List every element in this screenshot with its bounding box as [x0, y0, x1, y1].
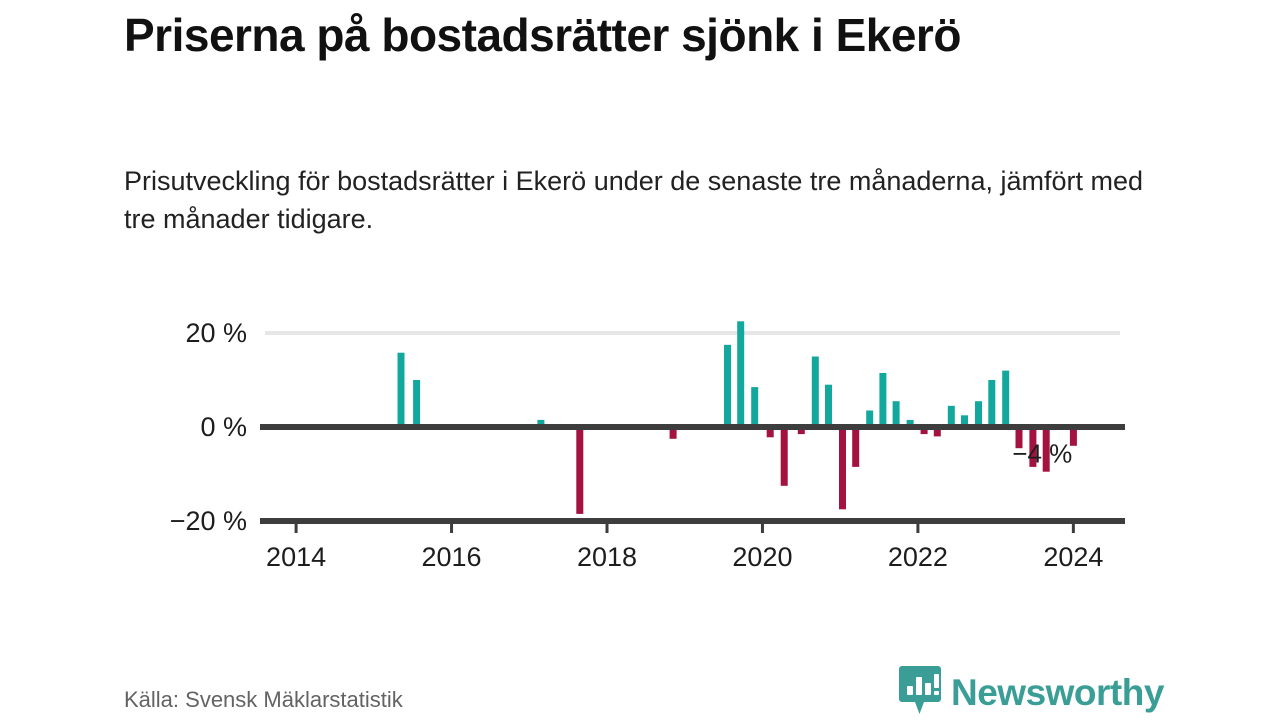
- chart-bar: [737, 321, 744, 427]
- x-axis-tick-label: 2020: [732, 542, 792, 572]
- gridline: [265, 331, 1120, 335]
- x-axis-tick-label: 2024: [1043, 542, 1103, 572]
- newsworthy-logo[interactable]: Newsworthy: [898, 664, 1164, 721]
- x-axis-tick: [916, 521, 919, 533]
- chart-bar: [1002, 371, 1009, 427]
- chart-bar: [751, 387, 758, 427]
- chart-bar: [825, 385, 832, 427]
- source-note: Källa: Svensk Mäklarstatistik: [124, 687, 403, 713]
- speech-bubble-bar-chart-icon: [898, 664, 942, 721]
- bar-chart: 20142016201820202022202420 %0 %−20 %−4 %: [0, 290, 1280, 590]
- logo-wordmark: Newsworthy: [951, 674, 1164, 711]
- x-axis-tick: [450, 521, 453, 533]
- x-axis-tick-label: 2014: [266, 542, 326, 572]
- y-axis-tick-label: 20 %: [185, 318, 247, 348]
- chart-bar: [975, 401, 982, 427]
- chart-bar: [413, 380, 420, 427]
- chart-svg: 20142016201820202022202420 %0 %−20 %−4 %: [0, 290, 1280, 590]
- page-title: Priserna på bostadsrätter sjönk i Ekerö: [124, 10, 1084, 62]
- x-axis-tick-label: 2018: [577, 542, 637, 572]
- zero-axis-line: [260, 424, 1125, 430]
- chart-bar: [852, 427, 859, 467]
- chart-bar: [576, 427, 583, 514]
- chart-bar: [812, 357, 819, 428]
- value-annotation: −4 %: [1012, 438, 1072, 468]
- chart-bar: [398, 353, 405, 427]
- x-axis-tick: [761, 521, 764, 533]
- chart-bar: [839, 427, 846, 509]
- y-axis-tick-label: −20 %: [170, 506, 247, 536]
- chart-bar: [988, 380, 995, 427]
- chart-bar: [724, 345, 731, 427]
- chart-bar: [879, 373, 886, 427]
- chart-bar: [781, 427, 788, 486]
- x-axis-tick-label: 2022: [888, 542, 948, 572]
- x-axis-line: [260, 518, 1125, 524]
- infographic-page: Priserna på bostadsrätter sjönk i Ekerö …: [0, 0, 1280, 720]
- x-axis-tick: [1072, 521, 1075, 533]
- x-axis-tick: [606, 521, 609, 533]
- y-axis-tick-label: 0 %: [200, 412, 247, 442]
- chart-bar: [893, 401, 900, 427]
- page-subtitle: Prisutveckling för bostadsrätter i Ekerö…: [124, 162, 1144, 239]
- x-axis-tick-label: 2016: [422, 542, 482, 572]
- chart-bar: [948, 406, 955, 427]
- x-axis-tick: [295, 521, 298, 533]
